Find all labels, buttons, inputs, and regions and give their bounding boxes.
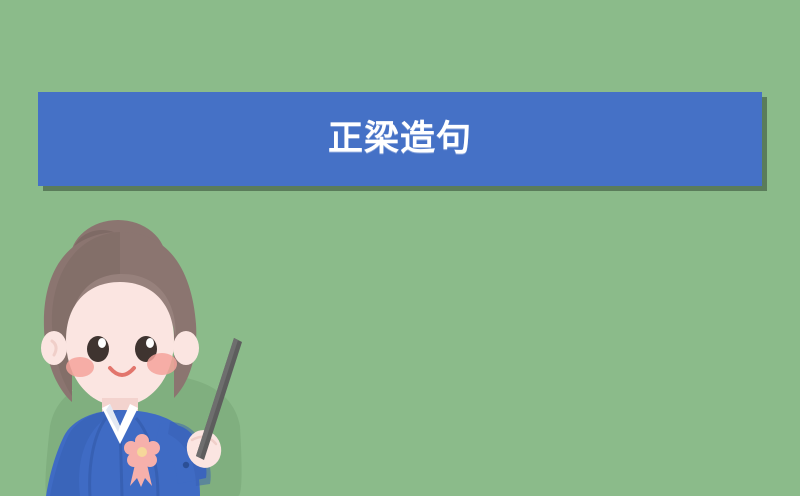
page-canvas: 正梁造句 [0,0,800,496]
left-eye [87,336,109,362]
face [66,282,174,406]
left-cheek [66,357,94,377]
title-banner: 正梁造句 [38,92,762,186]
page-title: 正梁造句 [328,122,472,157]
right-cheek [147,353,177,375]
teacher-illustration [10,212,270,496]
